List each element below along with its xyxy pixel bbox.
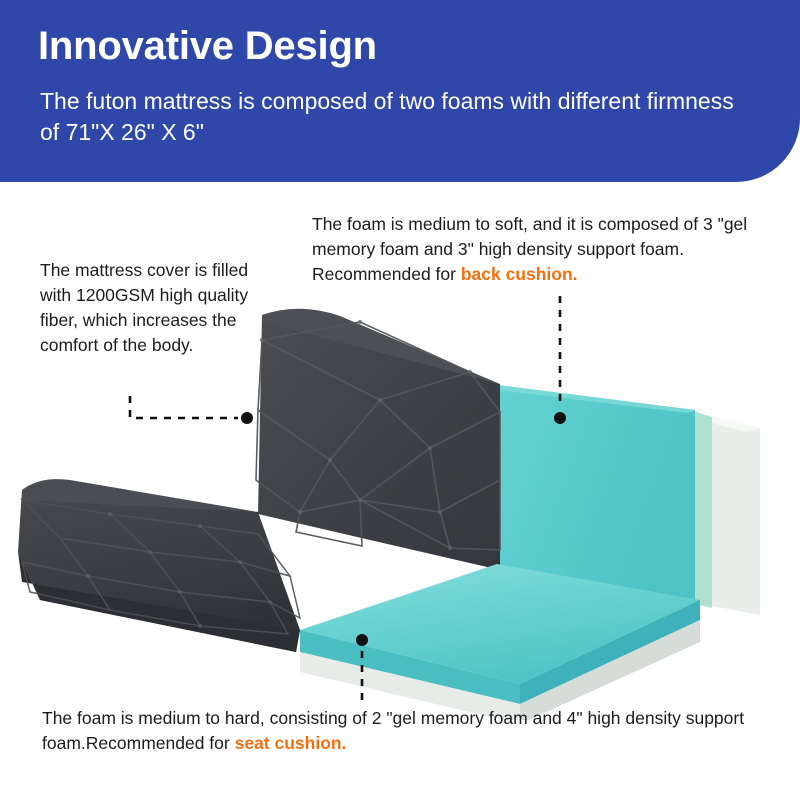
- leader-dot-back-cushion: [554, 412, 566, 424]
- page-root: Innovative Design The futon mattress is …: [0, 0, 800, 800]
- leader-dot-seat-cushion: [356, 634, 368, 646]
- leader-cover: [130, 396, 238, 418]
- leader-dot-cover: [241, 412, 253, 424]
- leader-lines: [0, 0, 800, 800]
